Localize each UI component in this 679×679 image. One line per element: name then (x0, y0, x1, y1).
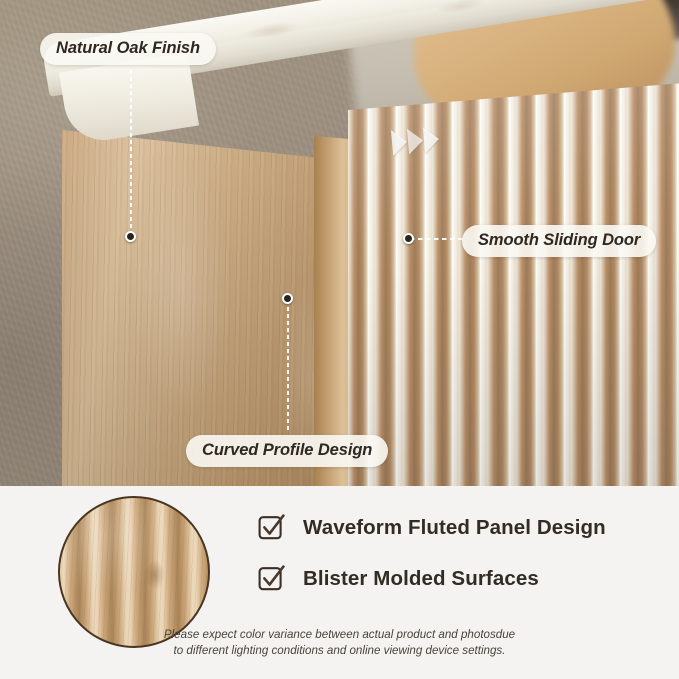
door-flute-groove (648, 83, 655, 486)
door-flute-groove (564, 83, 571, 486)
feature-item: Blister Molded Surfaces (258, 565, 606, 592)
door-flute-groove (536, 83, 543, 486)
product-photo: Natural Oak Finish Smooth Sliding Door C… (0, 0, 679, 486)
door-flute-groove (620, 83, 627, 486)
door-flute-groove (480, 83, 487, 486)
door-flute-slat (571, 83, 593, 486)
feature-list: Waveform Fluted Panel Design Blister Mol… (258, 514, 606, 616)
slide-direction-indicator (391, 126, 440, 156)
door-flute-slat (627, 83, 648, 486)
door-flute-groove (368, 83, 375, 486)
product-feature-image: Natural Oak Finish Smooth Sliding Door C… (0, 0, 679, 679)
callout-dot-curved (282, 293, 293, 304)
chevron-right-icon (407, 127, 424, 154)
door-flute-slat (487, 83, 509, 486)
callout-label-smooth-sliding-door: Smooth Sliding Door (462, 225, 656, 257)
callout-label-natural-oak-finish: Natural Oak Finish (40, 33, 216, 65)
feature-summary-panel: Waveform Fluted Panel Design Blister Mol… (0, 486, 679, 679)
chevron-right-icon (391, 129, 408, 156)
disclaimer-line-2: to different lighting conditions and onl… (96, 643, 583, 659)
callout-leader-line-door (410, 238, 466, 240)
door-flute-slat (655, 83, 677, 486)
door-flute-groove (593, 83, 600, 486)
door-flute-slat (348, 83, 368, 486)
door-flute-slat (543, 83, 564, 486)
cabinet-side-oak-panel (62, 130, 334, 486)
callout-leader-line-oak (130, 70, 132, 234)
wood-grain-swatch (58, 496, 210, 648)
callout-label-curved-profile-design: Curved Profile Design (186, 435, 388, 467)
feature-label: Blister Molded Surfaces (303, 567, 539, 591)
callout-dot-door (403, 233, 414, 244)
door-flute-slat (600, 83, 620, 486)
door-flute-slat (459, 83, 480, 486)
checkbox-checked-icon (258, 514, 285, 541)
feature-item: Waveform Fluted Panel Design (258, 514, 606, 541)
checkbox-checked-icon (258, 565, 285, 592)
door-flute-groove (509, 83, 516, 486)
chevron-right-icon (423, 126, 440, 153)
callout-dot-oak (125, 231, 136, 242)
feature-label: Waveform Fluted Panel Design (303, 516, 606, 540)
door-flute-slat (516, 83, 536, 486)
disclaimer-line-1: Please expect color variance between act… (96, 627, 583, 643)
door-flute-groove (452, 83, 459, 486)
color-variance-disclaimer: Please expect color variance between act… (0, 627, 679, 659)
callout-leader-line-curved (287, 300, 289, 430)
